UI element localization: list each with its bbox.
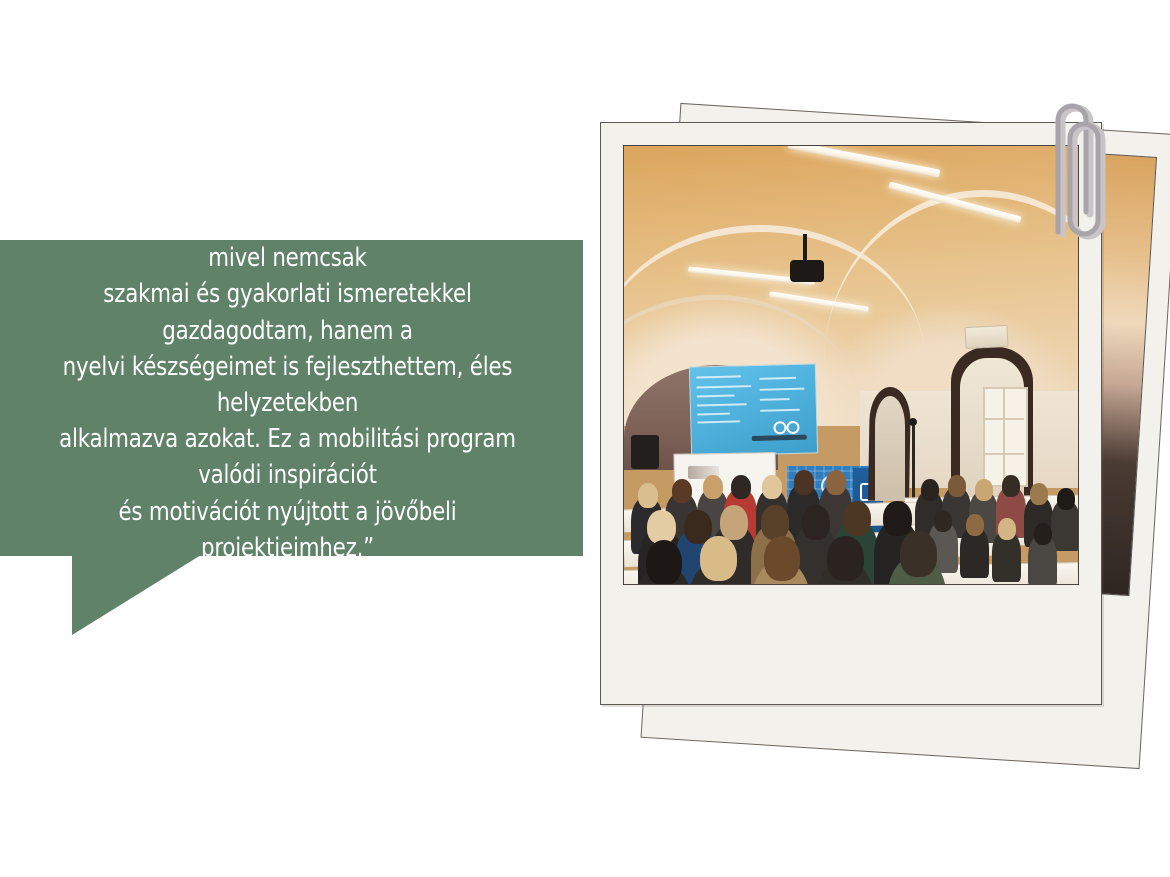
slide-circle-icon [774, 421, 787, 434]
audience-member-head [998, 518, 1016, 540]
slide-text-row [759, 377, 796, 380]
slide-progress-bar [751, 435, 806, 441]
poster-canvas: “Az egész hét rendkívül hasznosnak bizon… [0, 0, 1170, 877]
audience-member-head [843, 501, 871, 536]
audience-member-head [975, 479, 993, 501]
audience-member-head [1002, 475, 1020, 497]
quote-line-2: szakmai és gyakorlati ismeretekkel gazda… [41, 276, 535, 348]
audience-member-head [921, 479, 939, 501]
microphone-head [909, 418, 917, 426]
audience-member-head [883, 501, 911, 536]
slide-text-row [759, 398, 789, 401]
audience-member-head [827, 536, 864, 581]
audience-member-head [1030, 483, 1048, 505]
slide-text-row [697, 412, 729, 415]
audience-member-head [647, 510, 675, 545]
audience-member-head [703, 475, 723, 500]
doorway-left-opening [875, 396, 905, 501]
audience-member-head [948, 475, 966, 497]
audience-member-head [638, 483, 658, 508]
slide-text-row [697, 403, 747, 406]
lecture-hall-photo [623, 145, 1079, 585]
slide-circle-icon [786, 421, 799, 434]
window-pane [983, 387, 1028, 487]
slide-text-row [696, 385, 751, 388]
projection-screen [689, 363, 818, 456]
audience-member-head [1034, 523, 1052, 545]
audience-member-head [762, 475, 782, 500]
audience-member-head [646, 540, 683, 585]
audience-member-head [826, 470, 846, 495]
audience-member-head [794, 470, 814, 495]
audience-member-head [720, 505, 748, 540]
audience-member-head [966, 514, 984, 536]
quote-line-4: alkalmazva azokat. Ez a mobilitási progr… [41, 421, 535, 493]
audience-member-head [900, 531, 937, 576]
slide-text-row [697, 421, 739, 424]
projector-icon [790, 260, 824, 282]
polaroid-front-card[interactable] [600, 122, 1102, 705]
audience-member-head [934, 510, 952, 532]
quote-line-1: “Az egész hét rendkívül hasznosnak bizon… [41, 204, 535, 276]
audience-member-head [731, 475, 751, 500]
window-mullion-horizontal [983, 453, 1024, 455]
slide-text-row [697, 395, 734, 398]
photo-stack [596, 104, 1170, 784]
slide-text-row [696, 375, 741, 378]
audience-member-head [761, 505, 789, 540]
audience-member-head [1057, 488, 1075, 510]
window-mullion-vertical [1003, 387, 1005, 483]
testimonial-quote-bubble: “Az egész hét rendkívül hasznosnak bizon… [0, 240, 583, 556]
audience-member-head [700, 536, 737, 581]
audience-member-head [764, 536, 801, 581]
loudspeaker [631, 435, 659, 469]
audience-member-head [672, 479, 692, 504]
slide-text-row [759, 387, 804, 390]
slide-text-row [759, 409, 799, 412]
window-mullion-horizontal [983, 418, 1024, 420]
air-conditioner-unit [964, 324, 1008, 348]
audience-member-head [802, 505, 830, 540]
quote-line-3: nyelvi készségeimet is fejleszthettem, é… [41, 349, 535, 421]
